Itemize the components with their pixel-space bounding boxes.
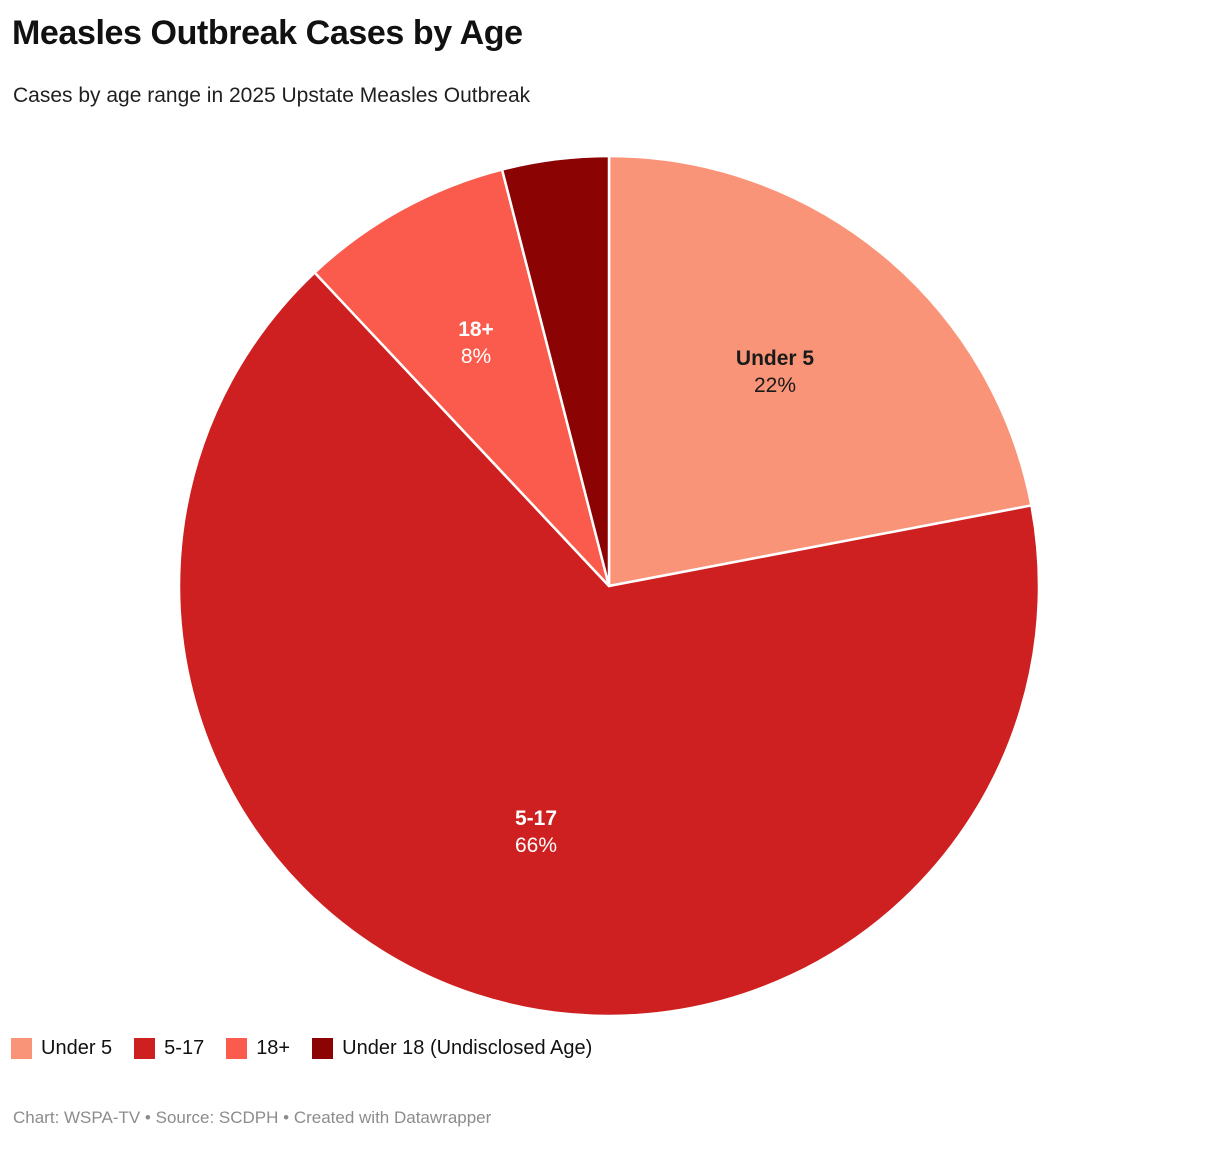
legend-item[interactable]: Under 18 (Undisclosed Age) xyxy=(312,1037,592,1060)
page-title: Measles Outbreak Cases by Age xyxy=(12,14,523,53)
legend-swatch xyxy=(226,1038,247,1059)
chart-credit: Chart: WSPA-TV • Source: SCDPH • Created… xyxy=(13,1108,491,1128)
legend-item[interactable]: Under 5 xyxy=(11,1037,112,1060)
chart-subtitle: Cases by age range in 2025 Upstate Measl… xyxy=(13,84,530,108)
legend-label: 18+ xyxy=(256,1037,290,1060)
pie-svg xyxy=(0,120,1220,1020)
legend-label: Under 18 (Undisclosed Age) xyxy=(342,1037,592,1060)
chart-legend: Under 55-1718+Under 18 (Undisclosed Age) xyxy=(11,1037,614,1060)
legend-label: 5-17 xyxy=(164,1037,204,1060)
legend-swatch xyxy=(312,1038,333,1059)
legend-item[interactable]: 18+ xyxy=(226,1037,290,1060)
legend-swatch xyxy=(134,1038,155,1059)
legend-label: Under 5 xyxy=(41,1037,112,1060)
pie-chart-figure: Measles Outbreak Cases by Age Cases by a… xyxy=(0,0,1220,1150)
legend-item[interactable]: 5-17 xyxy=(134,1037,204,1060)
legend-swatch xyxy=(11,1038,32,1059)
pie-slice-group xyxy=(179,156,1039,1016)
pie-plot-area: Under 5 22% 5-17 66% 18+ 8% xyxy=(0,120,1220,1020)
